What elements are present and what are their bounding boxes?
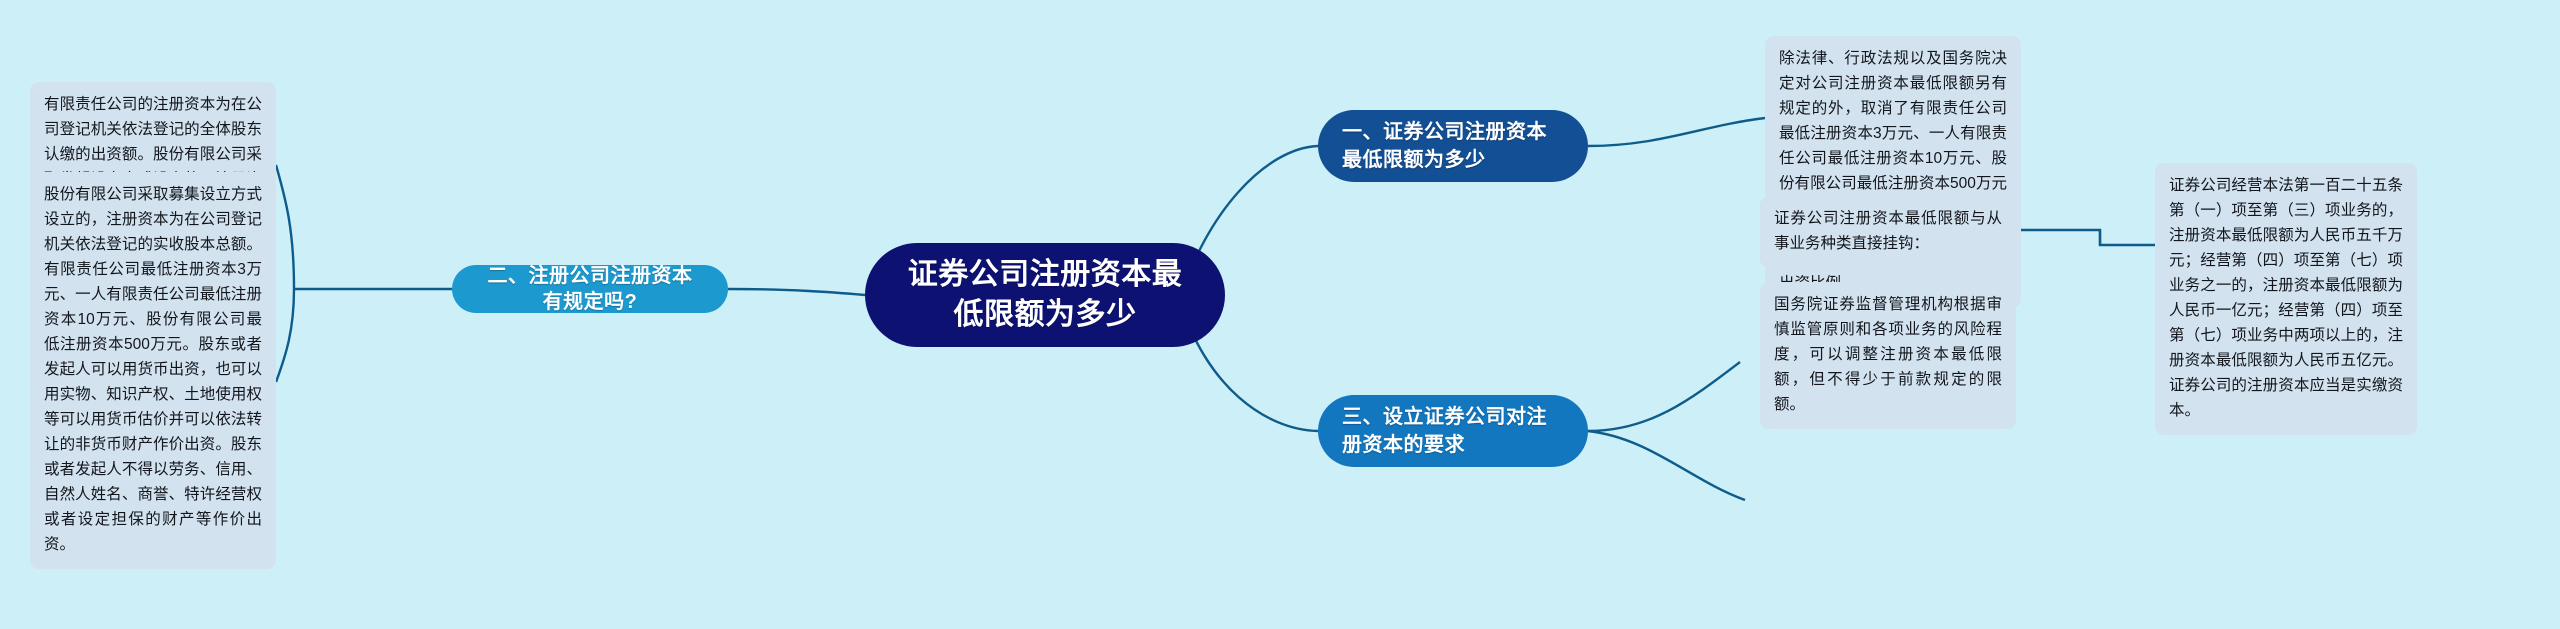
- root-node-label: 证券公司注册资本最低限额为多少: [899, 255, 1191, 335]
- left-card-2: 股份有限公司采取募集设立方式设立的，注册资本为在公司登记机关依法登记的实收股本总…: [30, 172, 276, 569]
- connector-left-to-card1: [276, 165, 294, 289]
- right-bottom-card-1: 证券公司注册资本最低限额与从事业务种类直接挂钩：: [1760, 196, 2016, 268]
- connector-right-top-to-card: [1588, 118, 1765, 146]
- far-right-card: 证券公司经营本法第一百二十五条第（一）项至第（三）项业务的，注册资本最低限额为人…: [2155, 163, 2417, 435]
- connector-root-to-left: [728, 289, 865, 295]
- root-node[interactable]: 证券公司注册资本最低限额为多少: [865, 243, 1225, 347]
- mindmap-canvas: 有限责任公司的注册资本为在公司登记机关依法登记的全体股东认缴的出资额。股份有限公…: [0, 0, 2560, 629]
- branch-node-left[interactable]: 二、注册公司注册资本有规定吗?: [452, 265, 728, 313]
- connector-left-to-card2: [276, 289, 294, 382]
- right-bottom-card-2: 国务院证券监督管理机构根据审慎监管原则和各项业务的风险程度，可以调整注册资本最低…: [1760, 282, 2016, 429]
- branch-node-right-bottom-label: 三、设立证券公司对注册资本的要求: [1342, 403, 1564, 459]
- connector-right-bottom-to-card1: [1588, 362, 1740, 431]
- branch-node-left-label: 二、注册公司注册资本有规定吗?: [478, 263, 702, 315]
- branch-node-right-top-label: 一、证券公司注册资本最低限额为多少: [1342, 118, 1564, 174]
- connector-card-to-far-right: [2021, 230, 2155, 245]
- connector-right-bottom-to-card2: [1588, 431, 1745, 500]
- branch-node-right-bottom[interactable]: 三、设立证券公司对注册资本的要求: [1318, 395, 1588, 467]
- branch-node-right-top[interactable]: 一、证券公司注册资本最低限额为多少: [1318, 110, 1588, 182]
